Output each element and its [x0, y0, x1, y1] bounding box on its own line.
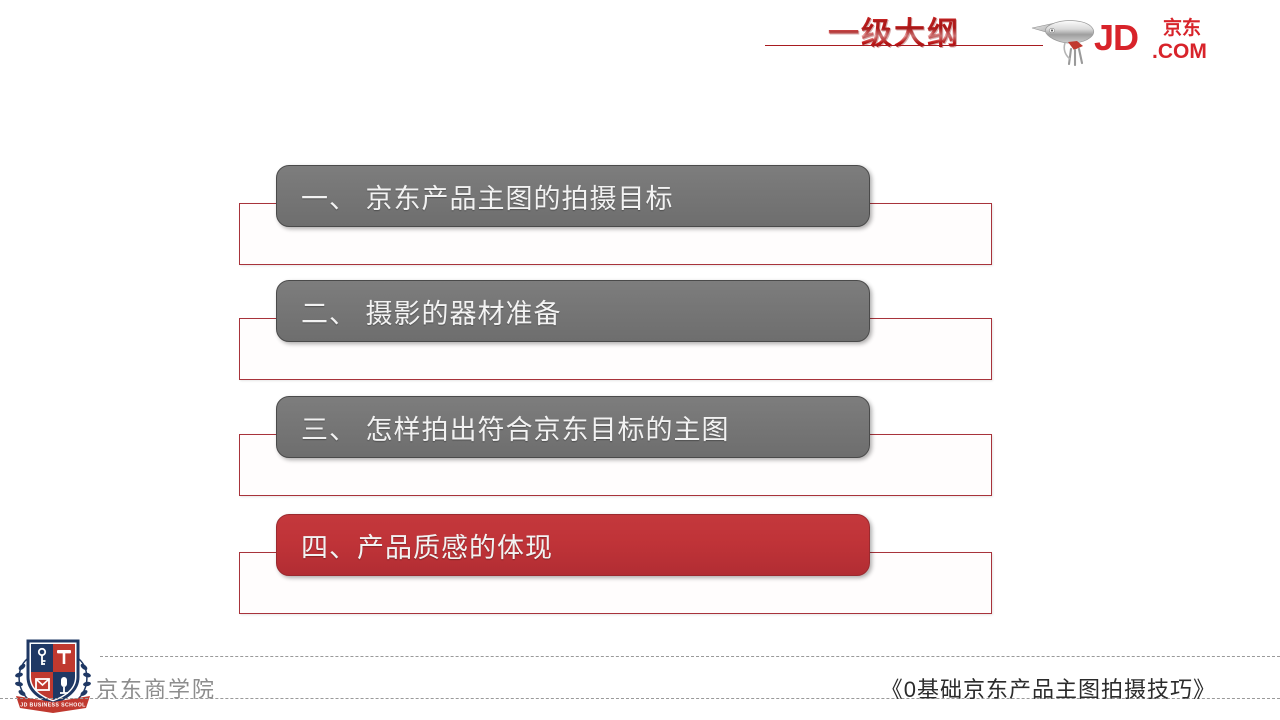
- outline-pill[interactable]: 二、 摄影的器材准备: [276, 280, 870, 342]
- shield-banner-text: JD BUSINESS SCHOOL: [20, 703, 86, 709]
- outline-item-label: 二、 摄影的器材准备: [277, 292, 562, 331]
- outline-item-1[interactable]: 一、 京东产品主图的拍摄目标: [239, 165, 994, 283]
- outline-pill[interactable]: 三、 怎样拍出符合京东目标的主图: [276, 396, 870, 458]
- jd-business-school-shield-icon: JD BUSINESS SCHOOL: [10, 633, 96, 715]
- outline-pill[interactable]: 一、 京东产品主图的拍摄目标: [276, 165, 870, 227]
- outline-item-label: 四、产品质感的体现: [277, 526, 553, 565]
- footer-brand-label: 京东商学院: [96, 672, 216, 704]
- outline-pill-active[interactable]: 四、产品质感的体现: [276, 514, 870, 576]
- outline-item-3[interactable]: 三、 怎样拍出符合京东目标的主图: [239, 396, 994, 514]
- outline-item-label: 三、 怎样拍出符合京东目标的主图: [277, 408, 730, 447]
- outline-item-2[interactable]: 二、 摄影的器材准备: [239, 280, 994, 398]
- footer-course-title: 《0基础京东产品主图拍摄技巧》: [881, 672, 1216, 704]
- footer-divider-top: [100, 656, 1280, 657]
- slide-footer: JD BUSINESS SCHOOL 京东商学院 《0基础京东产品主图拍摄技巧》: [0, 628, 1280, 720]
- outline-list: 一、 京东产品主图的拍摄目标 二、 摄影的器材准备 三、 怎样拍出符合京东目标的…: [0, 0, 1280, 720]
- outline-item-4[interactable]: 四、产品质感的体现: [239, 514, 994, 632]
- outline-item-label: 一、 京东产品主图的拍摄目标: [277, 177, 674, 216]
